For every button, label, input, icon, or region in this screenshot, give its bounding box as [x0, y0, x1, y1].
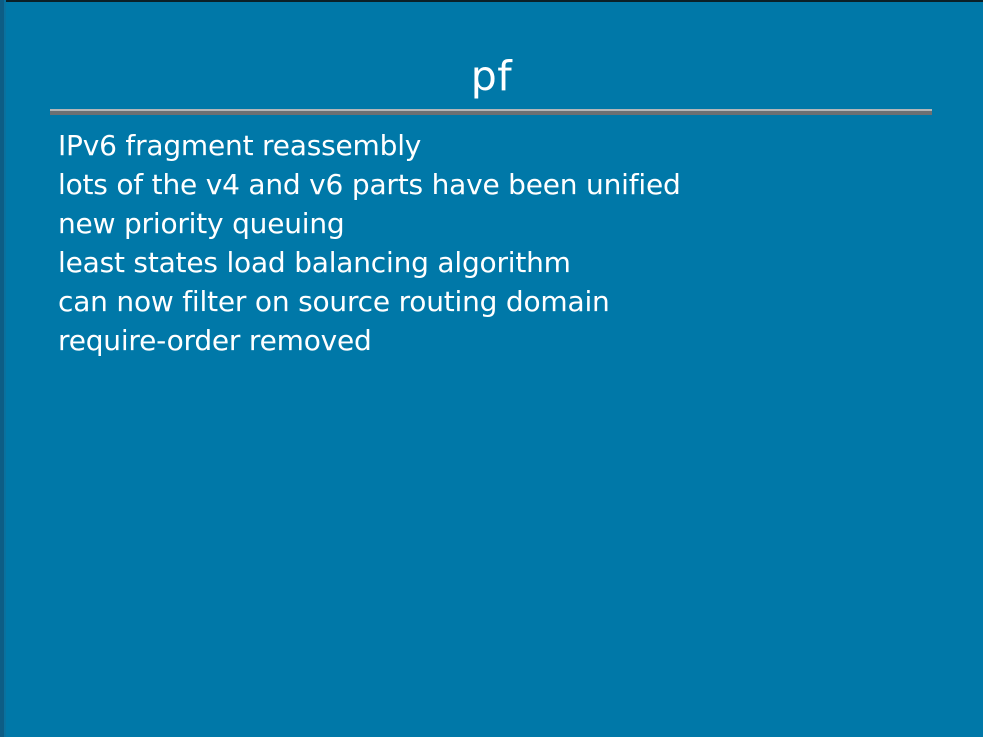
- list-item: lots of the v4 and v6 parts have been un…: [58, 165, 958, 204]
- list-item: require-order removed: [58, 321, 958, 360]
- presentation-slide: pf IPv6 fragment reassembly lots of the …: [0, 0, 983, 737]
- title-divider-shadow: [50, 111, 932, 115]
- slide-top-edge-line: [0, 0, 983, 2]
- list-item: IPv6 fragment reassembly: [58, 126, 958, 165]
- title-divider-rule: [50, 109, 932, 115]
- list-item: can now filter on source routing domain: [58, 282, 958, 321]
- slide-title: pf: [0, 52, 983, 100]
- list-item: new priority queuing: [58, 204, 958, 243]
- slide-bullet-list: IPv6 fragment reassembly lots of the v4 …: [58, 126, 958, 360]
- slide-left-edge-inner-strip: [4, 0, 6, 737]
- list-item: least states load balancing algorithm: [58, 243, 958, 282]
